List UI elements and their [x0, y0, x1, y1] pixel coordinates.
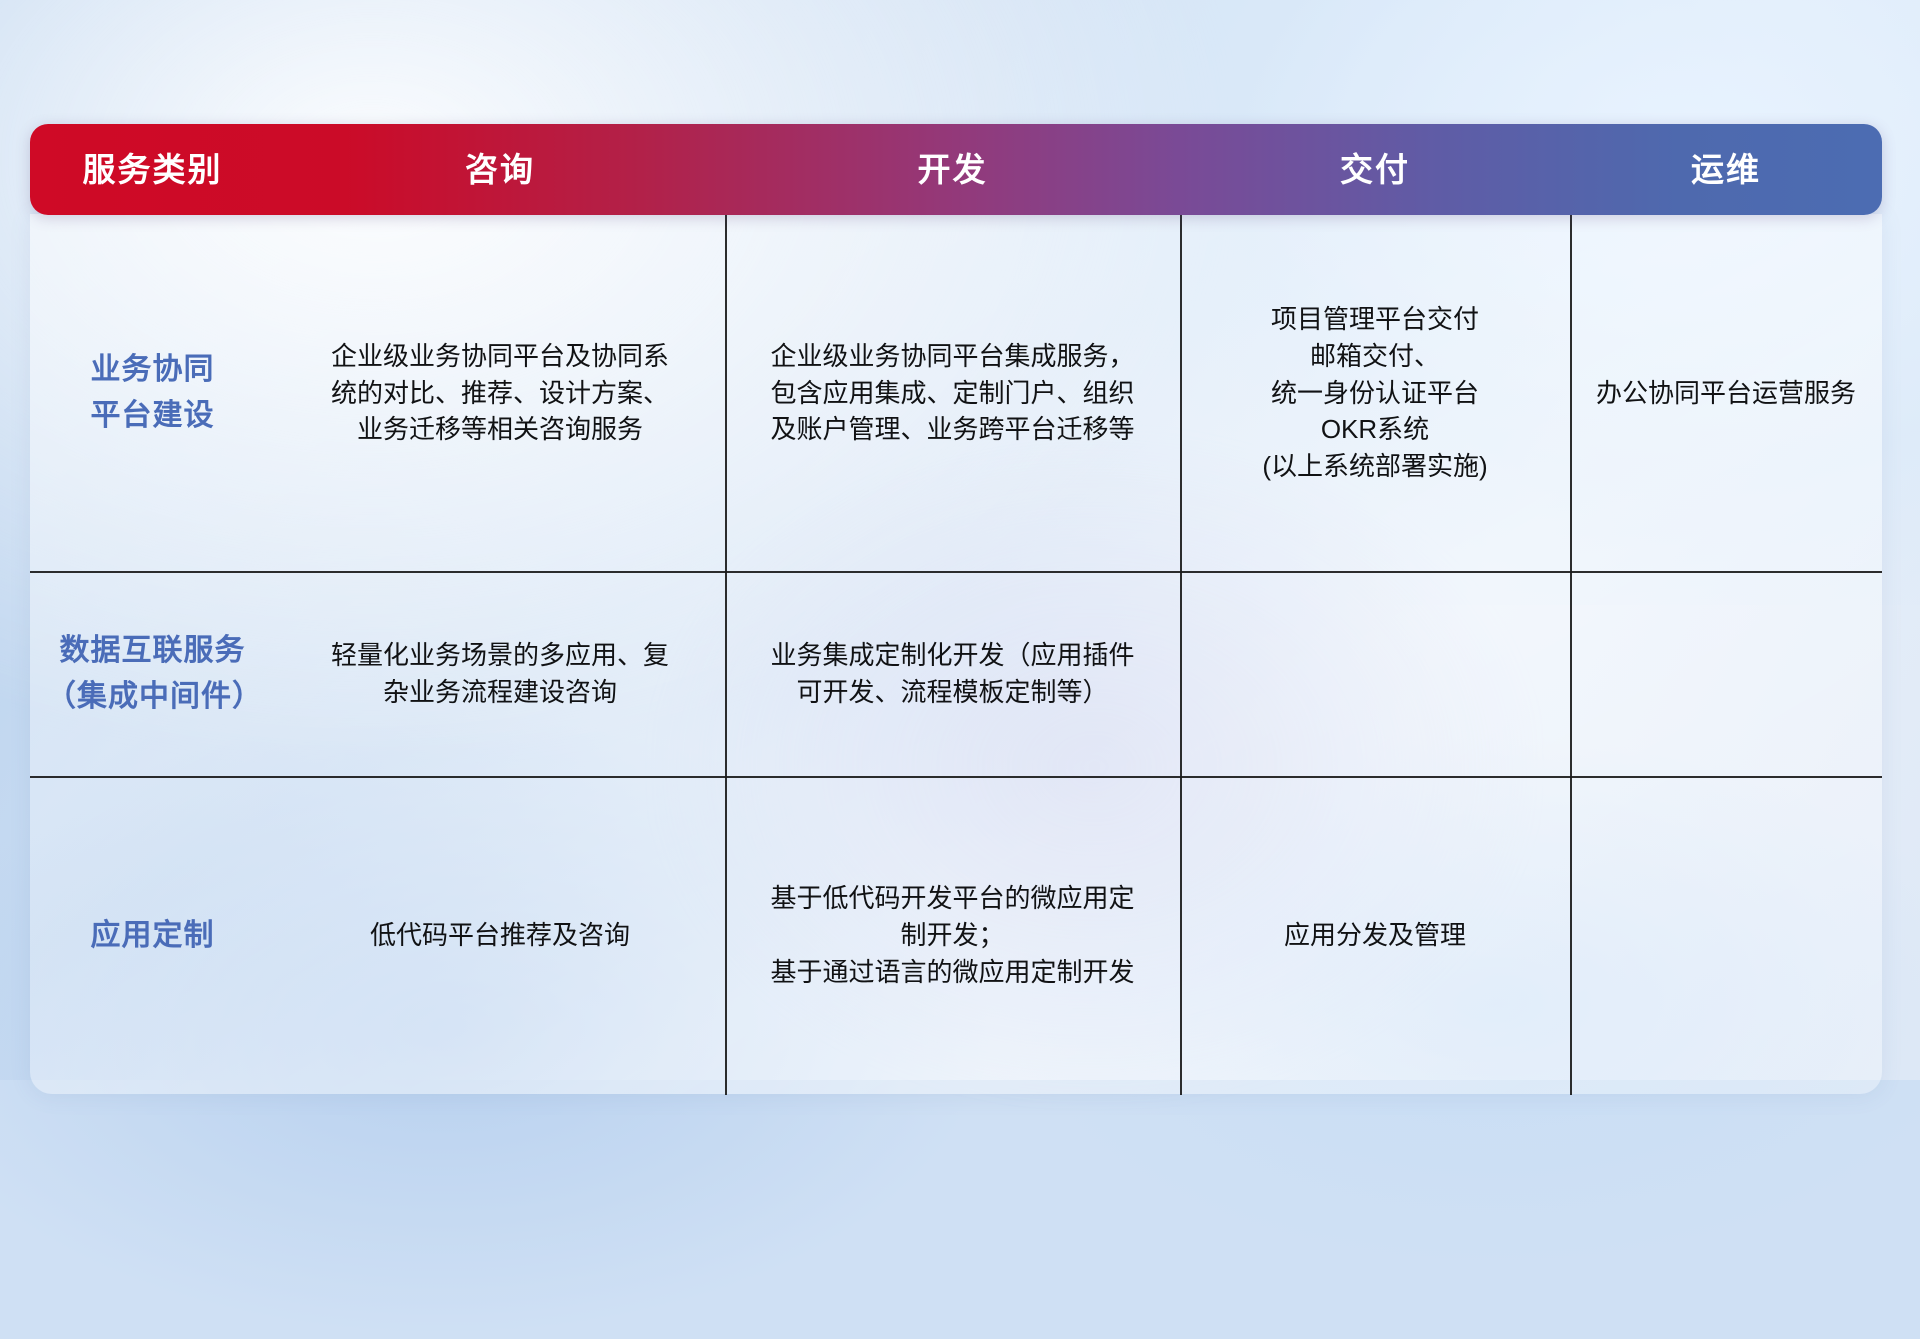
cell-delivery: 项目管理平台交付 邮箱交付、 统一身份认证平台 OKR系统 (以上系统部署实施) — [1180, 215, 1570, 571]
cell-operations: 办公协同平台运营服务 — [1570, 215, 1882, 571]
cell-development: 业务集成定制化开发（应用插件 可开发、流程模板定制等） — [725, 571, 1180, 776]
column-header-delivery: 交付 — [1180, 124, 1570, 215]
cell-consulting: 轻量化业务场景的多应用、复 杂业务流程建设咨询 — [275, 571, 725, 776]
cell-development: 企业级业务协同平台集成服务， 包含应用集成、定制门户、组织 及账户管理、业务跨平… — [725, 215, 1180, 571]
row-category-label: 数据互联服务 （集成中间件） — [30, 571, 275, 776]
column-header-consulting: 咨询 — [275, 124, 725, 215]
cell-development: 基于低代码开发平台的微应用定 制开发； 基于通过语言的微应用定制开发 — [725, 776, 1180, 1095]
column-header-service-category: 服务类别 — [30, 124, 275, 215]
column-header-label: 服务类别 — [83, 153, 223, 186]
column-header-label: 交付 — [1340, 153, 1410, 186]
cell-operations — [1570, 571, 1882, 776]
column-header-label: 开发 — [918, 153, 988, 186]
service-matrix-table: 服务类别 咨询 开发 交付 运维 业务协同 平台建设 企业级业务协同平台及协同系… — [30, 124, 1882, 1095]
column-header-development: 开发 — [725, 124, 1180, 215]
cell-delivery: 应用分发及管理 — [1180, 776, 1570, 1095]
column-header-label: 咨询 — [465, 153, 535, 186]
cell-delivery — [1180, 571, 1570, 776]
column-header-operations: 运维 — [1570, 124, 1882, 215]
table-header-row: 服务类别 咨询 开发 交付 运维 — [30, 124, 1882, 215]
table-row: 应用定制 低代码平台推荐及咨询 基于低代码开发平台的微应用定 制开发； 基于通过… — [30, 776, 1882, 1095]
table-row: 业务协同 平台建设 企业级业务协同平台及协同系 统的对比、推荐、设计方案、 业务… — [30, 215, 1882, 571]
cell-consulting: 企业级业务协同平台及协同系 统的对比、推荐、设计方案、 业务迁移等相关咨询服务 — [275, 215, 725, 571]
row-category-label: 应用定制 — [30, 776, 275, 1095]
cell-operations — [1570, 776, 1882, 1095]
cell-consulting: 低代码平台推荐及咨询 — [275, 776, 725, 1095]
table-body: 业务协同 平台建设 企业级业务协同平台及协同系 统的对比、推荐、设计方案、 业务… — [30, 215, 1882, 1095]
table-row: 数据互联服务 （集成中间件） 轻量化业务场景的多应用、复 杂业务流程建设咨询 业… — [30, 571, 1882, 776]
row-category-label: 业务协同 平台建设 — [30, 215, 275, 571]
column-header-label: 运维 — [1691, 153, 1761, 186]
